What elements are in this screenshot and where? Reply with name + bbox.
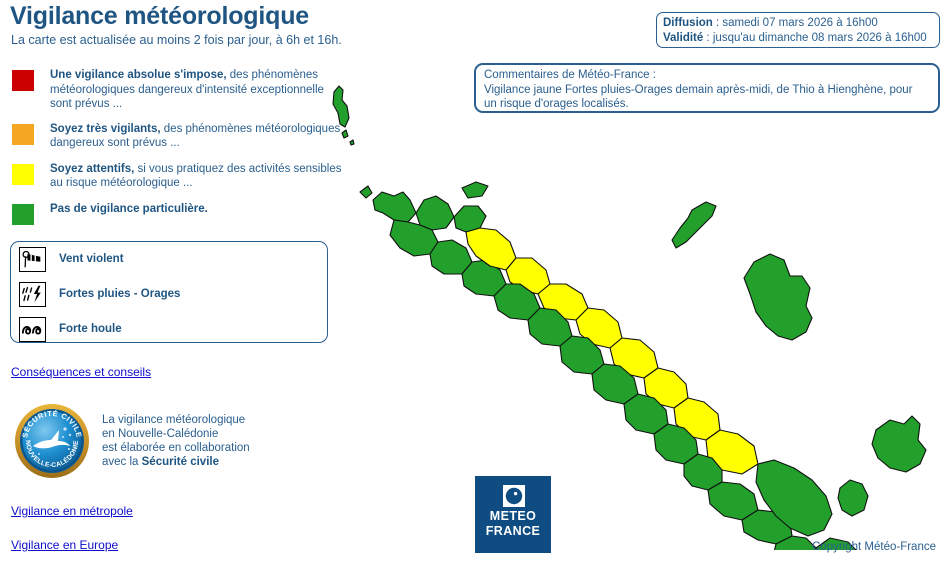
heavy-swell-icon: [19, 317, 46, 342]
mf-line-2: FRANCE: [475, 524, 551, 539]
diffusion-label: Diffusion: [663, 17, 713, 29]
windsock-icon: [19, 247, 46, 272]
map-zone-pouebo[interactable]: [454, 182, 488, 232]
legend-row-yellow: Soyez attentifs, si vous pratiquez des a…: [12, 162, 342, 192]
diffusion-line: Diffusion : samedi 07 mars 2026 à 16h00: [663, 16, 933, 31]
legend-row-orange: Soyez très vigilants, des phénomènes mét…: [12, 122, 342, 152]
phenomenon-label-wind: Vent violent: [59, 247, 327, 272]
meteo-france-logo: METEO FRANCE: [475, 476, 551, 553]
link-consequences-et-conseils[interactable]: Conséquences et conseils: [11, 365, 151, 379]
diffusion-validity-box: Diffusion : samedi 07 mars 2026 à 16h00 …: [656, 12, 940, 48]
validite-value: : jusqu'au dimanche 08 mars 2026 à 16h00: [703, 32, 926, 44]
rain-thunderstorm-icon: [19, 282, 46, 307]
map-zone-mare[interactable]: [872, 416, 926, 472]
diffusion-value: : samedi 07 mars 2026 à 16h00: [713, 17, 878, 29]
map-zone-lifou[interactable]: [744, 254, 812, 340]
validite-label: Validité: [663, 32, 703, 44]
nouvelle-caledonie-vigilance-map[interactable]: [320, 80, 950, 550]
map-zone-ouvea[interactable]: [672, 202, 716, 248]
phenomenon-label-swell: Forte houle: [59, 317, 327, 342]
validite-line: Validité : jusqu'au dimanche 08 mars 202…: [663, 31, 933, 46]
securite-civile-logo: SÉCURITÉ CIVILE NOUVELLE-CALÉDONIE: [13, 402, 91, 480]
link-vigilance-en-metropole[interactable]: Vigilance en métropole: [11, 504, 133, 518]
legend-red-bold: Une vigilance absolue s'impose,: [50, 69, 227, 81]
partner-line-2: en Nouvelle-Calédonie: [102, 427, 250, 441]
partner-line-1: La vigilance météorologique: [102, 413, 250, 427]
meteo-france-wordmark: METEO FRANCE: [475, 509, 551, 538]
phenomenon-row-rain: Fortes pluies - Orages: [19, 282, 327, 312]
legend-row-green: Pas de vigilance particulière.: [12, 202, 342, 232]
partner-line-4-prefix: avec la: [102, 456, 142, 468]
red-swatch: [12, 70, 34, 91]
partner-text: La vigilance météorologique en Nouvelle-…: [102, 413, 250, 469]
meteo-france-emblem-icon: [503, 485, 525, 507]
map-zone-poum[interactable]: [360, 186, 416, 222]
legend-orange-bold: Soyez très vigilants,: [50, 123, 161, 135]
mf-line-1: METEO: [475, 509, 551, 524]
map-zone-belep[interactable]: [333, 86, 354, 145]
map-svg[interactable]: [320, 80, 950, 550]
link-vigilance-en-europe[interactable]: Vigilance en Europe: [11, 538, 118, 552]
orange-swatch: [12, 124, 34, 145]
partner-block: SÉCURITÉ CIVILE NOUVELLE-CALÉDONIE La vi…: [10, 402, 310, 480]
partner-line-3: est élaborée en collaboration: [102, 441, 250, 455]
page-subtitle: La carte est actualisée au moins 2 fois …: [11, 33, 342, 47]
phenomenon-label-rain: Fortes pluies - Orages: [59, 282, 327, 307]
phenomenon-row-wind: Vent violent: [19, 247, 327, 277]
phenomenon-row-swell: Forte houle: [19, 317, 327, 347]
vigilance-level-legend: Une vigilance absolue s'impose, des phén…: [12, 68, 342, 242]
legend-green-bold: Pas de vigilance particulière.: [50, 203, 208, 215]
page-title: Vigilance météorologique: [10, 2, 309, 31]
map-zone-ouegoa[interactable]: [416, 196, 454, 230]
yellow-swatch: [12, 164, 34, 185]
legend-row-red: Une vigilance absolue s'impose, des phén…: [12, 68, 342, 112]
phenomena-legend-box: Vent violent Fortes pluies - Orages Fort…: [10, 241, 328, 343]
map-zone-ile-des-pins[interactable]: [838, 480, 868, 516]
green-swatch: [12, 204, 34, 225]
legend-yellow-bold: Soyez attentifs,: [50, 163, 134, 175]
partner-line-4-bold: Sécurité civile: [142, 456, 219, 468]
copyright-text: Copyright Météo-France: [812, 541, 936, 553]
